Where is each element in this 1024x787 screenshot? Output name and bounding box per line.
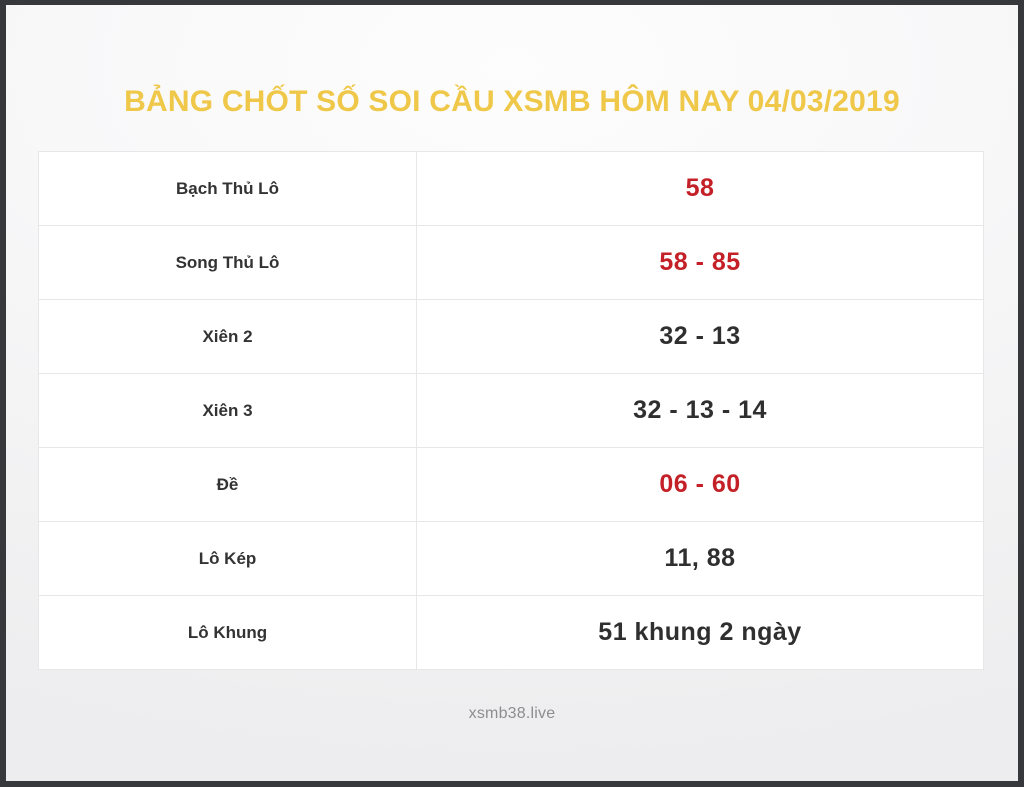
row-label: Xiên 3	[39, 374, 417, 448]
row-label: Song Thủ Lô	[39, 226, 417, 300]
table-row: Xiên 232 - 13	[39, 300, 984, 374]
outer-frame: BẢNG CHỐT SỐ SOI CẦU XSMB HÔM NAY 04/03/…	[0, 0, 1024, 787]
table-row: Xiên 332 - 13 - 14	[39, 374, 984, 448]
row-value: 06 - 60	[417, 448, 984, 522]
table-row: Bạch Thủ Lô58	[39, 152, 984, 226]
row-value: 32 - 13	[417, 300, 984, 374]
site-watermark: xsmb38.live	[6, 705, 1018, 723]
row-value: 11, 88	[417, 522, 984, 596]
row-label: Lô Khung	[39, 596, 417, 670]
row-value: 32 - 13 - 14	[417, 374, 984, 448]
row-value: 58 - 85	[417, 226, 984, 300]
table-row: Lô Kép11, 88	[39, 522, 984, 596]
table-row: Song Thủ Lô58 - 85	[39, 226, 984, 300]
row-label: Đề	[39, 448, 417, 522]
row-label: Bạch Thủ Lô	[39, 152, 417, 226]
row-label: Xiên 2	[39, 300, 417, 374]
table-body: Bạch Thủ Lô58Song Thủ Lô58 - 85Xiên 232 …	[39, 152, 984, 670]
table-row: Lô Khung51 khung 2 ngày	[39, 596, 984, 670]
soi-cau-table: Bạch Thủ Lô58Song Thủ Lô58 - 85Xiên 232 …	[38, 151, 984, 670]
row-value: 58	[417, 152, 984, 226]
row-value: 51 khung 2 ngày	[417, 596, 984, 670]
page-canvas: BẢNG CHỐT SỐ SOI CẦU XSMB HÔM NAY 04/03/…	[6, 5, 1018, 781]
row-label: Lô Kép	[39, 522, 417, 596]
table-row: Đề06 - 60	[39, 448, 984, 522]
page-title: BẢNG CHỐT SỐ SOI CẦU XSMB HÔM NAY 04/03/…	[6, 83, 1018, 121]
